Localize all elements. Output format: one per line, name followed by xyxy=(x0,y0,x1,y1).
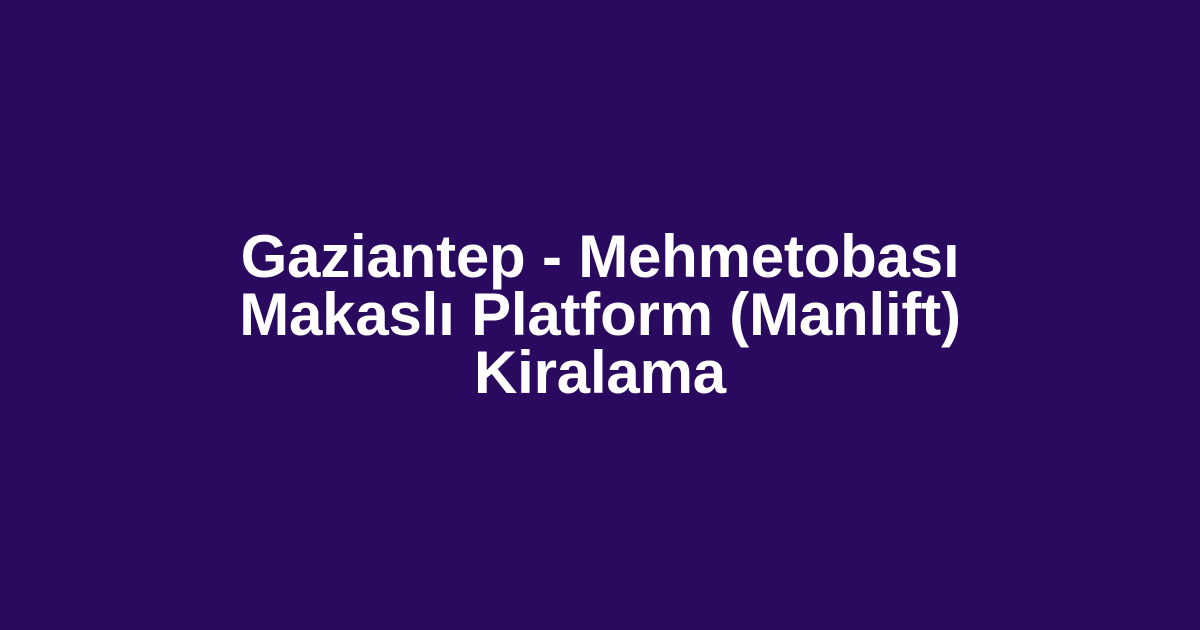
title-block: Gaziantep - Mehmetobası Makaslı Platform… xyxy=(100,228,1100,402)
og-share-card: Gaziantep - Mehmetobası Makaslı Platform… xyxy=(0,0,1200,630)
page-title: Gaziantep - Mehmetobası Makaslı Platform… xyxy=(160,228,1040,402)
